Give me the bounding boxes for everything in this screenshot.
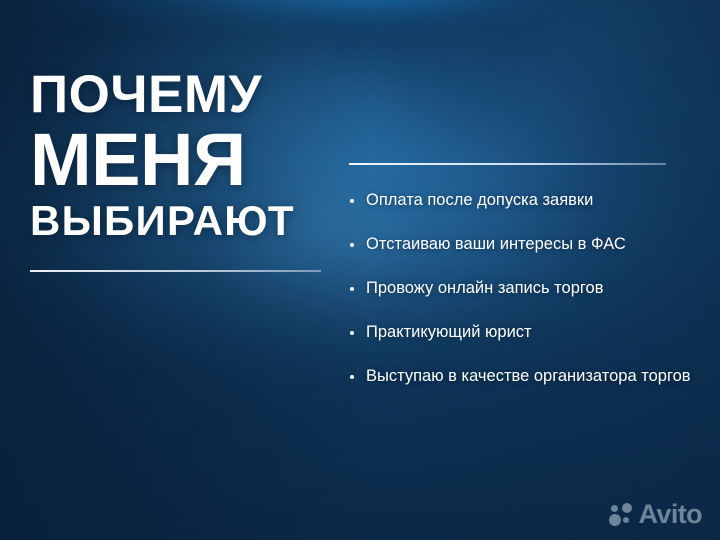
headline-line-2: МЕНЯ xyxy=(30,124,330,195)
list-item: Провожу онлайн запись торгов xyxy=(349,278,694,300)
benefits-list: Оплата после допуска заявки Отстаиваю ва… xyxy=(349,190,694,388)
list-item: Практикующий юрист xyxy=(349,322,694,344)
list-item: Выступаю в качестве организатора торгов xyxy=(349,366,694,388)
list-item: Отстаиваю ваши интересы в ФАС xyxy=(349,234,694,256)
avito-logo-icon xyxy=(609,502,634,527)
headline-underline-rule xyxy=(30,270,321,272)
bullets-top-rule xyxy=(349,163,666,165)
headline-line-1: ПОЧЕМУ xyxy=(30,70,330,121)
list-item: Оплата после допуска заявки xyxy=(349,190,694,212)
promo-poster: ПОЧЕМУ МЕНЯ ВЫБИРАЮТ Оплата после допуск… xyxy=(0,0,720,540)
avito-wordmark: Avito xyxy=(639,501,703,528)
avito-watermark: Avito xyxy=(609,501,703,528)
headline-line-3: ВЫБИРАЮТ xyxy=(30,201,330,241)
headline-block: ПОЧЕМУ МЕНЯ ВЫБИРАЮТ xyxy=(30,70,330,241)
